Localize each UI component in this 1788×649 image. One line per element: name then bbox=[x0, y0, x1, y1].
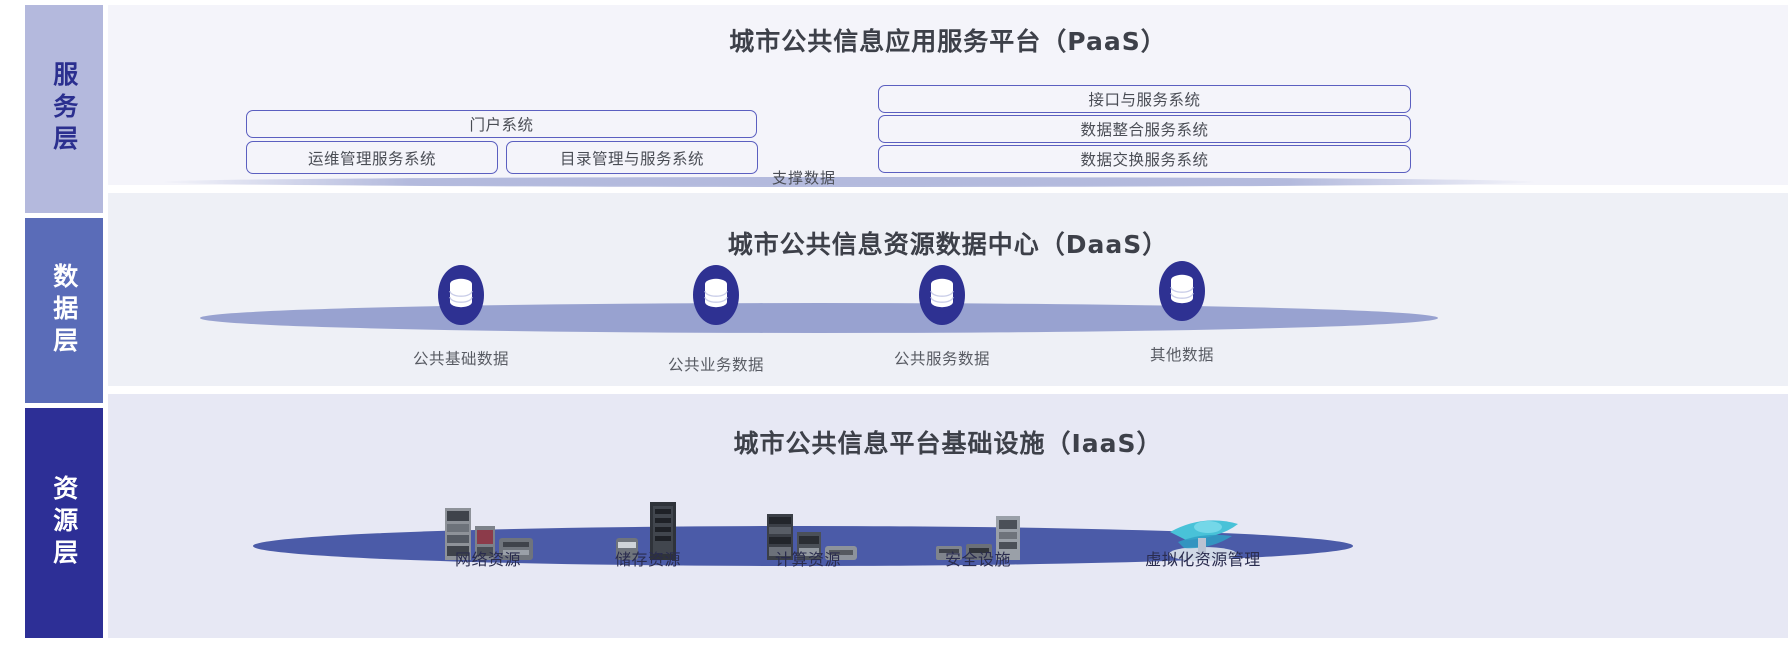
resource-node-label: 虚拟化资源管理 bbox=[1145, 546, 1261, 570]
resource-node-label: 安全设施 bbox=[945, 546, 1011, 570]
data-node-label: 其他数据 bbox=[1150, 343, 1214, 365]
data-node-public-basic[interactable]: 公共基础数据 bbox=[361, 265, 561, 375]
service-box-catalog-management[interactable]: 目录管理与服务系统 bbox=[506, 141, 758, 174]
service-box-data-integration[interactable]: 数据整合服务系统 bbox=[878, 115, 1411, 143]
resource-layer-title: 城市公共信息平台基础设施（IaaS） bbox=[108, 424, 1788, 460]
database-icon bbox=[930, 278, 954, 310]
data-node-public-business[interactable]: 公共业务数据 bbox=[616, 265, 816, 375]
database-icon bbox=[704, 278, 728, 310]
resource-node-label: 网络资源 bbox=[455, 546, 521, 570]
layer-tab-resource-label: 资源层 bbox=[50, 475, 78, 571]
service-box-portal[interactable]: 门户系统 bbox=[246, 110, 757, 138]
layer-tab-service[interactable]: 服务层 bbox=[25, 5, 103, 213]
service-layer-title: 城市公共信息应用服务平台（PaaS） bbox=[108, 22, 1788, 58]
layer-tab-data[interactable]: 数据层 bbox=[25, 218, 103, 403]
support-data-label: 支撑数据 bbox=[772, 167, 836, 188]
resource-node-label: 计算资源 bbox=[775, 546, 841, 570]
data-node-label: 公共业务数据 bbox=[668, 353, 764, 375]
architecture-diagram: 服务层 数据层 资源层 城市公共信息应用服务平台（PaaS） 门户系统 运维管理… bbox=[0, 0, 1788, 649]
paas-base-shadow bbox=[160, 177, 1538, 187]
layer-tab-resource[interactable]: 资源层 bbox=[25, 408, 103, 638]
layer-tab-data-label: 数据层 bbox=[50, 263, 78, 359]
data-node-label: 公共服务数据 bbox=[894, 347, 990, 369]
resource-node-security[interactable]: 安全设施 bbox=[878, 478, 1078, 564]
layer-tab-service-label: 服务层 bbox=[50, 61, 78, 157]
data-node-public-service[interactable]: 公共服务数据 bbox=[842, 265, 1042, 375]
database-icon bbox=[449, 278, 473, 310]
service-layer-panel: 城市公共信息应用服务平台（PaaS） 门户系统 运维管理服务系统 目录管理与服务… bbox=[108, 5, 1788, 185]
service-box-ops-management[interactable]: 运维管理服务系统 bbox=[246, 141, 498, 174]
service-box-data-exchange[interactable]: 数据交换服务系统 bbox=[878, 145, 1411, 173]
data-node-label: 公共基础数据 bbox=[413, 347, 509, 369]
data-layer-panel: 城市公共信息资源数据中心（DaaS） 公共基础数据 bbox=[108, 193, 1788, 386]
database-icon bbox=[1170, 274, 1194, 306]
service-box-interface-service[interactable]: 接口与服务系统 bbox=[878, 85, 1411, 113]
resource-node-virtualization[interactable]: 虚拟化资源管理 bbox=[1088, 472, 1318, 564]
resource-node-label: 储存资源 bbox=[615, 546, 681, 570]
data-node-other[interactable]: 其他数据 bbox=[1082, 261, 1282, 371]
data-layer-title: 城市公共信息资源数据中心（DaaS） bbox=[108, 225, 1788, 261]
resource-layer-panel: 城市公共信息平台基础设施（IaaS） 网络资源 bbox=[108, 394, 1788, 638]
